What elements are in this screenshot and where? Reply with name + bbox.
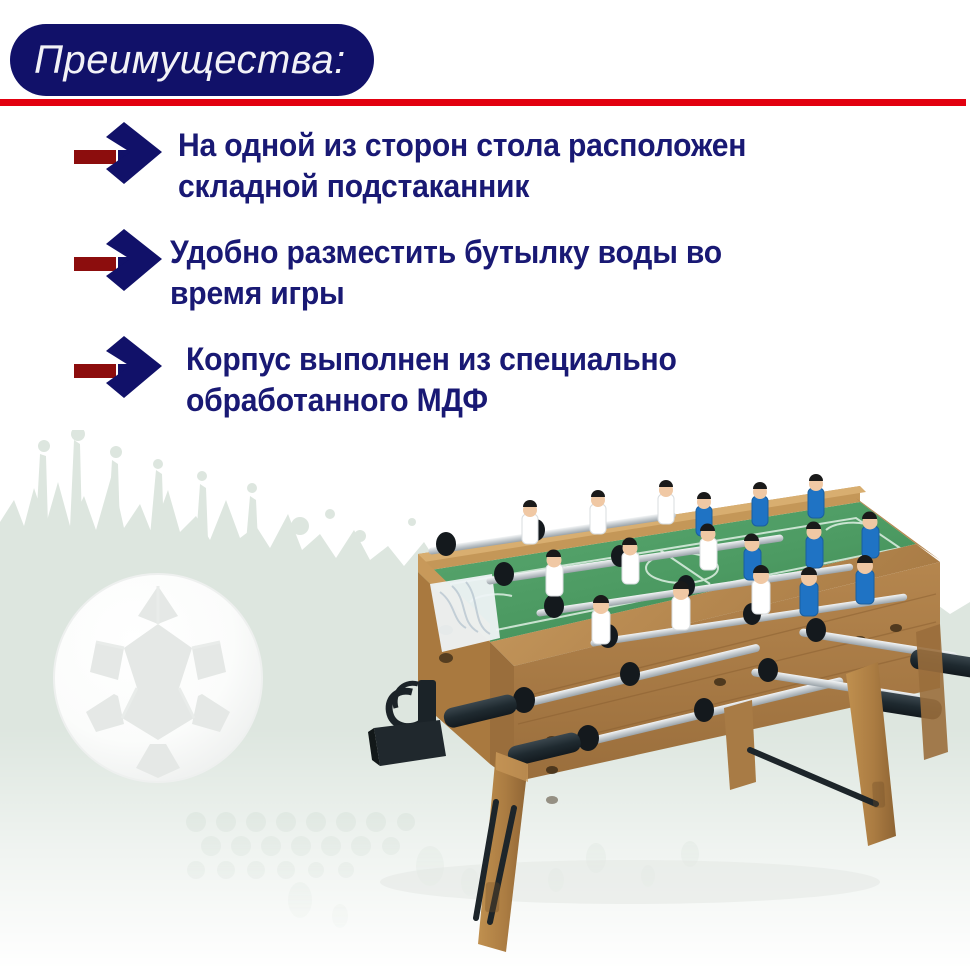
header-divider-rule — [0, 99, 966, 106]
cup-holder-part — [368, 680, 446, 766]
arrow-marker-icon — [74, 122, 178, 184]
advantages-list: На одной из сторон стола расположен скла… — [0, 122, 970, 443]
list-item: Удобно разместить бутылку воды во время … — [0, 229, 970, 314]
header-badge: Преимущества: — [10, 24, 374, 96]
list-item-label: На одной из сторон стола расположен скла… — [178, 125, 827, 207]
list-item-label: Удобно разместить бутылку воды во время … — [170, 232, 819, 314]
header-badge-label: Преимущества: — [10, 38, 346, 83]
arrow-marker-icon — [74, 336, 178, 398]
promo-poster: Преимущества: На одной из сторон стола р… — [0, 0, 970, 970]
list-item: Корпус выполнен из специально обработанн… — [0, 336, 970, 421]
list-item: На одной из сторон стола расположен скла… — [0, 122, 970, 207]
list-item-label: Корпус выполнен из специально обработанн… — [186, 339, 835, 421]
soccer-ball-watermark — [52, 572, 264, 784]
arrow-marker-icon — [74, 229, 178, 291]
foosball-table-photo — [300, 452, 970, 952]
